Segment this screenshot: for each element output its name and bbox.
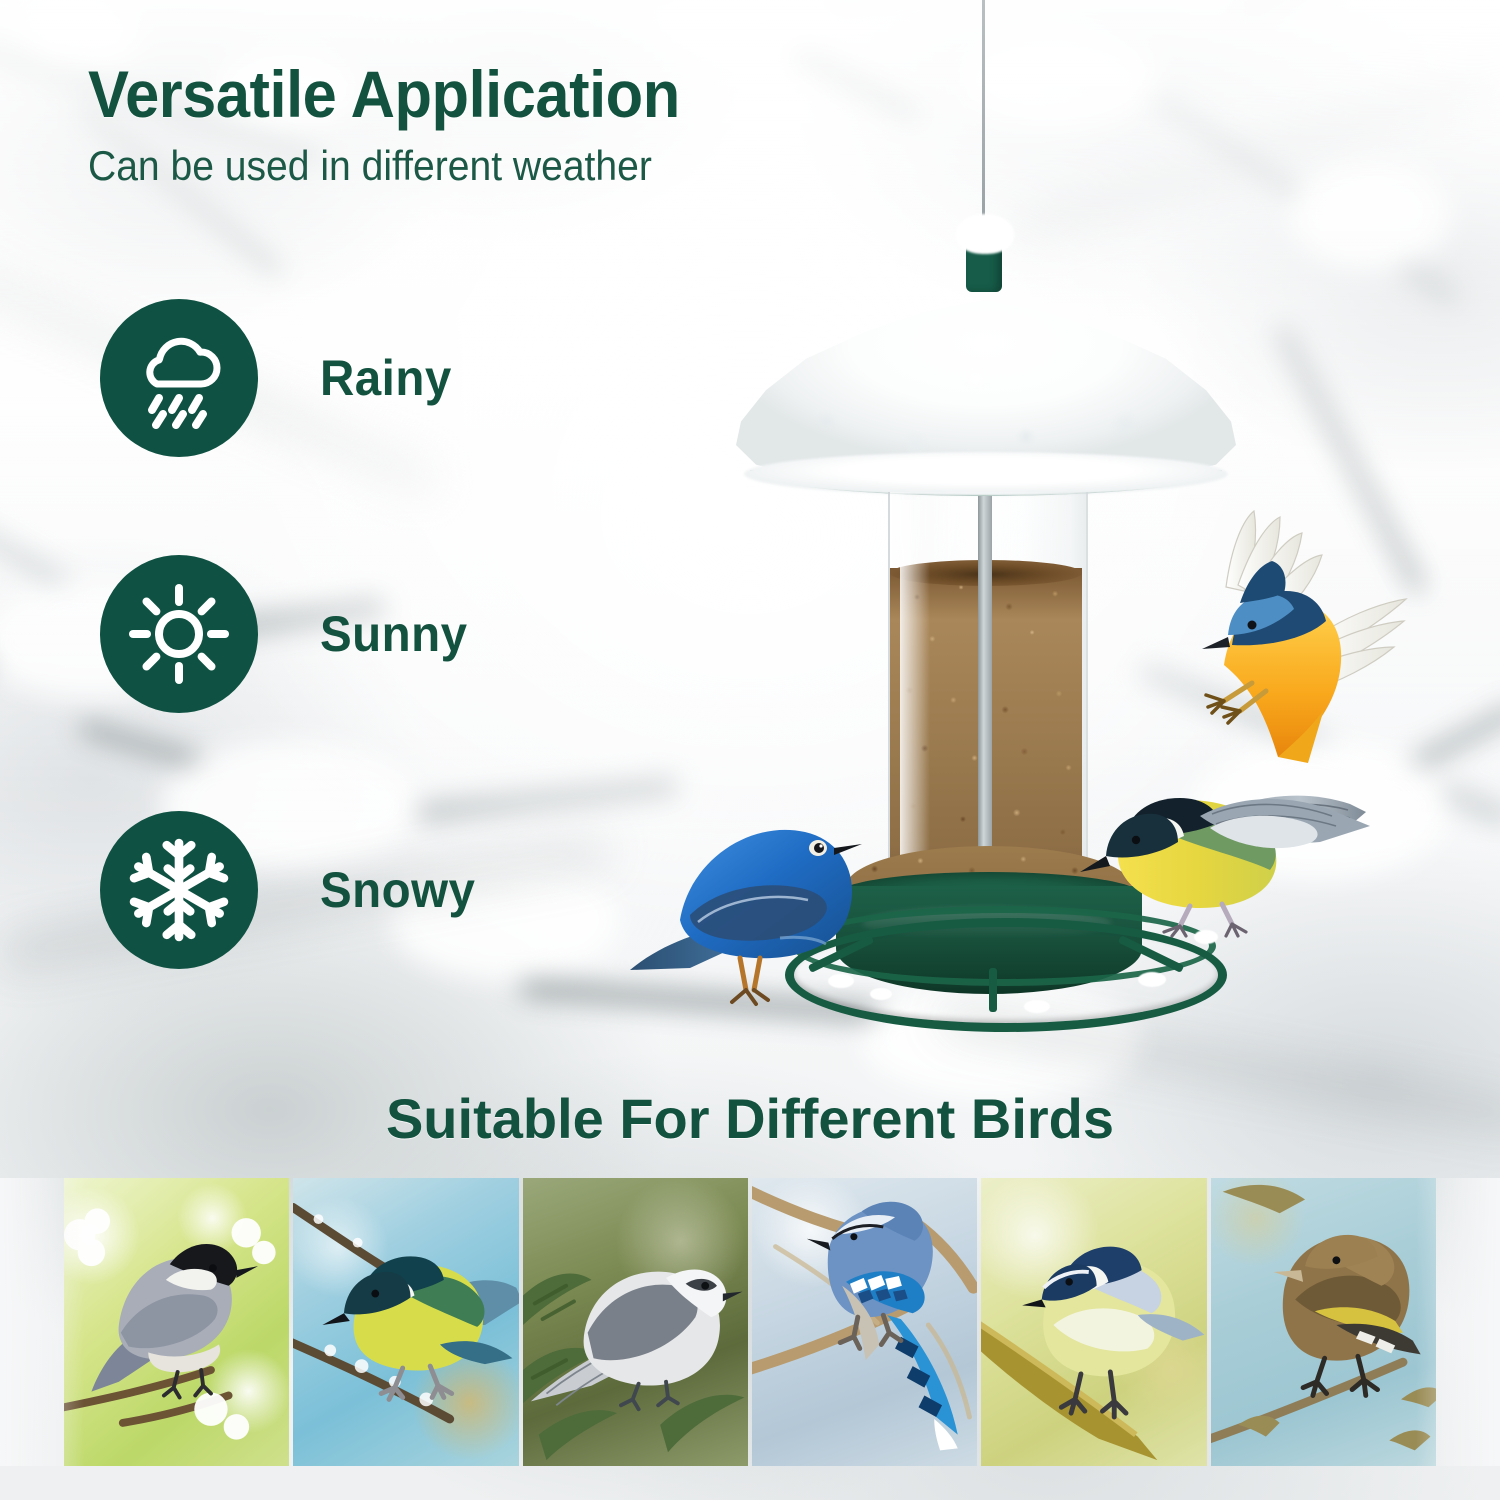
blue-tit-perched-right [1200,770,1380,920]
gallery-item-black-capped-chickadee[interactable] [64,1178,289,1466]
center-rod [978,496,992,894]
page-subtitle: Can be used in different weather [88,143,680,189]
feature-label-sunny: Sunny [320,605,468,663]
gallery-item-greenfinch[interactable] [1211,1178,1436,1466]
ring-snow-3 [1024,1000,1050,1013]
snowflake-icon-badge [100,811,258,969]
section-title: Suitable For Different Birds [0,1086,1500,1151]
snowflake-icon [126,837,232,943]
gallery-item-eurasian-blue-tit[interactable] [981,1178,1206,1466]
weather-feature-list: Rainy [100,288,484,980]
feature-label-rainy: Rainy [320,349,452,407]
bird-gallery-strip [64,1178,1436,1466]
gallery-item-gray-jay[interactable] [523,1178,748,1466]
blue-bird-perched-left [620,740,920,1020]
hanging-string [982,0,985,238]
gallery-item-great-tit[interactable] [293,1178,518,1466]
ring-snow-4 [1138,972,1166,987]
bird-feeder-product [600,0,1360,1060]
sun-icon [127,582,231,686]
feature-label-snowy: Snowy [320,861,475,919]
sun-icon-badge [100,555,258,713]
page-title: Versatile Application [88,60,680,129]
product-infographic: Versatile Application Can be used in dif… [0,0,1500,1500]
feature-rainy: Rainy [100,288,484,468]
hook-snow-cap [956,214,1014,254]
perch-strut-center [989,968,997,1012]
rain-cloud-icon-badge [100,299,258,457]
gallery-item-blue-jay[interactable] [752,1178,977,1466]
yellow-blue-bird-in-flight [1128,495,1448,785]
rain-cloud-icon [127,326,231,430]
roof-snow-rim [744,452,1228,496]
feature-snowy: Snowy [100,800,484,980]
feature-sunny: Sunny [100,544,484,724]
